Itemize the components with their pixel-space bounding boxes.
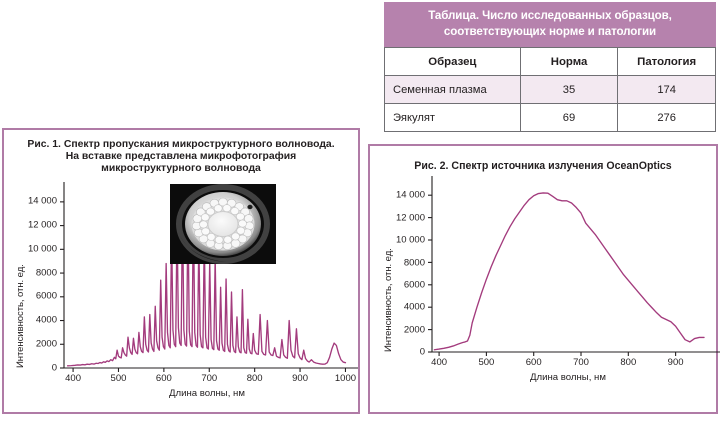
- figure-1-title-line-3: микроструктурного волновода: [14, 163, 348, 175]
- x-axis-label: Длина волны, нм: [64, 388, 350, 399]
- figure-2-plot-area: 0200040006000800010 00012 00014 00040050…: [370, 172, 716, 394]
- y-tick-label: 8000: [4, 267, 57, 278]
- table-cell-sample: Эякулят: [385, 104, 521, 132]
- photonic-crystal-fiber-icon: [170, 184, 276, 264]
- figure-1-title-line-1: Рис. 1. Спектр пропускания микроструктур…: [14, 139, 348, 151]
- x-tick-label: 700: [573, 357, 589, 368]
- table-header-sample: Образец: [385, 48, 521, 76]
- x-tick-label: 900: [292, 373, 308, 384]
- spectrum-curve: [434, 193, 704, 350]
- y-tick-label: 6000: [4, 291, 57, 302]
- y-tick-label: 0: [370, 347, 425, 358]
- x-tick-label: 900: [668, 357, 684, 368]
- y-tick-label: 8000: [370, 257, 425, 268]
- axes: [432, 176, 720, 352]
- x-tick-label: 800: [620, 357, 636, 368]
- y-axis-label: Интенсивность, отн. ед.: [15, 264, 26, 368]
- figure-1-title: Рис. 1. Спектр пропускания микроструктур…: [4, 130, 358, 176]
- y-tick-label: 6000: [370, 280, 425, 291]
- x-tick-label: 600: [156, 373, 172, 384]
- samples-table-panel: Таблица. Число исследованных образцов, с…: [384, 2, 716, 132]
- x-tick-label: 800: [247, 373, 263, 384]
- figure-1-title-line-2: На вставке представлена микрофотография: [14, 151, 348, 163]
- y-tick-label: 0: [4, 362, 57, 373]
- y-axis-label: Интенсивность, отн. ед.: [383, 248, 394, 352]
- y-tick-label: 12 000: [4, 220, 57, 231]
- y-tick-label: 10 000: [4, 243, 57, 254]
- table-caption: Таблица. Число исследованных образцов, с…: [384, 2, 716, 47]
- figure-2-panel: Рис. 2. Спектр источника излучения Ocean…: [368, 144, 718, 414]
- x-tick-label: 600: [526, 357, 542, 368]
- figure-1-panel: Рис. 1. Спектр пропускания микроструктур…: [2, 128, 360, 414]
- table-header-row: Образец Норма Патология: [385, 48, 716, 76]
- y-ticks: [428, 195, 676, 356]
- table-cell-pathology: 276: [618, 104, 716, 132]
- y-tick-label: 14 000: [4, 196, 57, 207]
- y-tick-label: 4000: [370, 302, 425, 313]
- table-cell-sample: Семенная плазма: [385, 76, 521, 104]
- table-caption-line-2: соответствующих норме и патологии: [392, 24, 708, 40]
- table-header-pathology: Патология: [618, 48, 716, 76]
- y-tick-label: 2000: [4, 338, 57, 349]
- x-tick-label: 500: [111, 373, 127, 384]
- figure-1-plot-area: 0200040006000800010 00012 00014 00040050…: [4, 176, 358, 412]
- x-tick-label: 500: [478, 357, 494, 368]
- table-caption-line-1: Таблица. Число исследованных образцов,: [392, 8, 708, 24]
- figure-2-title: Рис. 2. Спектр источника излучения Ocean…: [370, 146, 716, 172]
- table-cell-norm: 69: [520, 104, 618, 132]
- y-tick-label: 12 000: [370, 212, 425, 223]
- x-tick-label: 1000: [335, 373, 356, 384]
- x-tick-label: 700: [201, 373, 217, 384]
- x-axis-label: Длина волны, нм: [432, 372, 704, 383]
- table-row: Семенная плазма 35 174: [385, 76, 716, 104]
- samples-table: Образец Норма Патология Семенная плазма …: [384, 47, 716, 132]
- x-tick-label: 400: [431, 357, 447, 368]
- table-row: Эякулят 69 276: [385, 104, 716, 132]
- x-tick-label: 400: [65, 373, 81, 384]
- y-tick-label: 4000: [4, 315, 57, 326]
- y-tick-label: 14 000: [370, 190, 425, 201]
- table-header-norm: Норма: [520, 48, 618, 76]
- micrograph-inset: [170, 184, 276, 264]
- y-tick-label: 10 000: [370, 235, 425, 246]
- table-cell-norm: 35: [520, 76, 618, 104]
- y-tick-label: 2000: [370, 324, 425, 335]
- table-cell-pathology: 174: [618, 76, 716, 104]
- figure-2-title-line-1: Рис. 2. Спектр источника излучения Ocean…: [380, 160, 706, 172]
